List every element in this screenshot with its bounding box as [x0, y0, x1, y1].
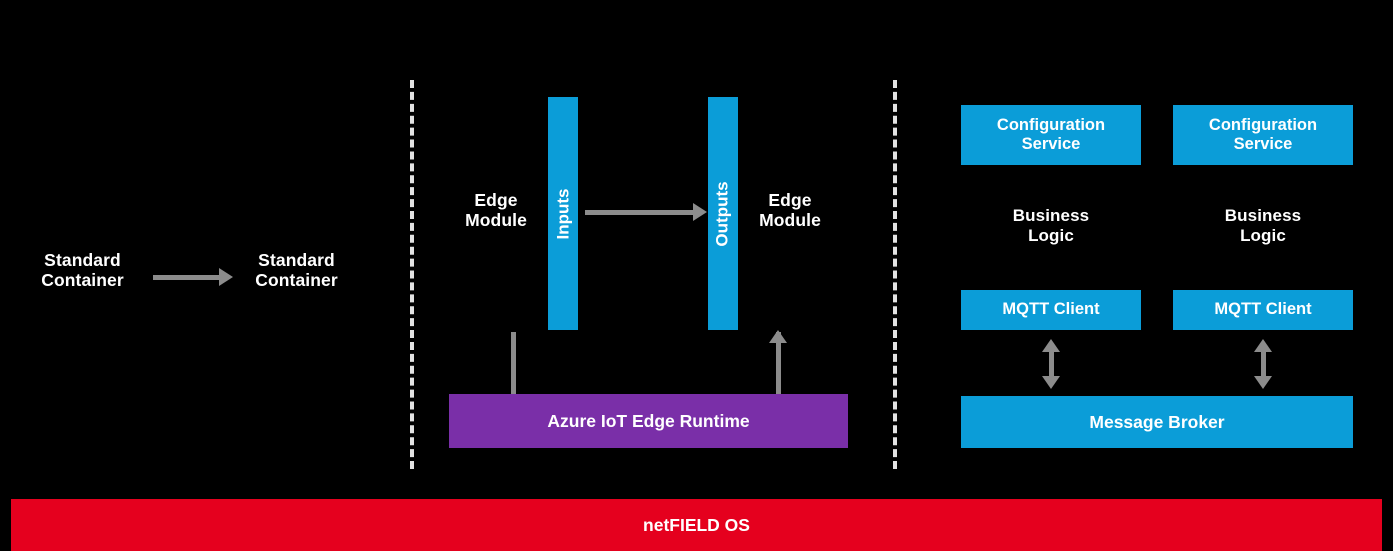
message-broker-bar: Message Broker — [961, 396, 1353, 448]
diagram-canvas: Standard Container Standard Container Ed… — [0, 0, 1393, 551]
section-divider-right — [893, 80, 897, 469]
arrow-up-icon — [769, 330, 787, 343]
arrow-right-shaft — [153, 275, 219, 280]
azure-iot-edge-runtime-bar: Azure IoT Edge Runtime — [449, 394, 848, 448]
edge-module-right-label: Edge Module — [730, 190, 850, 231]
arrow-down-part-icon — [1042, 376, 1060, 389]
configuration-service-box-2: Configuration Service — [1173, 105, 1353, 165]
section-divider-left — [410, 80, 414, 469]
edge-module-left-label: Edge Module — [436, 190, 556, 231]
configuration-service-box-1: Configuration Service — [961, 105, 1141, 165]
mqtt-broker-arrow-1 — [1042, 339, 1060, 389]
arrow-up-down-icon — [1042, 339, 1060, 352]
business-logic-label-1: Business Logic — [961, 206, 1141, 246]
arrow-down-part-icon — [1254, 376, 1272, 389]
arrow-shaft — [1049, 352, 1054, 376]
mqtt-client-box-2: MQTT Client — [1173, 290, 1353, 330]
netfield-os-bar: netFIELD OS — [11, 499, 1382, 551]
arrow-right-icon — [693, 203, 707, 221]
mqtt-client-box-1: MQTT Client — [961, 290, 1141, 330]
inputs-label: Inputs — [553, 188, 573, 239]
arrow-right-shaft — [585, 210, 693, 215]
edge-module-flow-arrow — [585, 203, 707, 221]
arrow-shaft — [1261, 352, 1266, 376]
standard-container-arrow — [153, 268, 233, 286]
mqtt-broker-arrow-2 — [1254, 339, 1272, 389]
standard-container-left-label: Standard Container — [10, 250, 155, 291]
standard-container-right-label: Standard Container — [224, 250, 369, 291]
arrow-up-down-icon — [1254, 339, 1272, 352]
inputs-bar: Inputs — [548, 97, 578, 330]
business-logic-label-2: Business Logic — [1173, 206, 1353, 246]
